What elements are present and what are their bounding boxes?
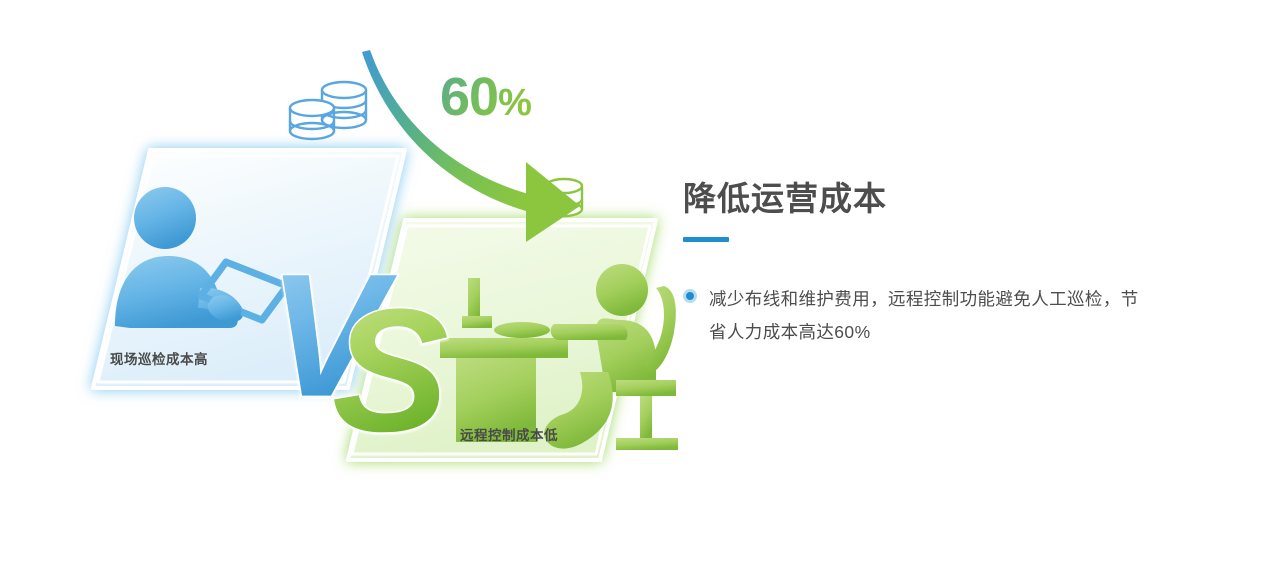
bullet-dot-icon [683,289,697,303]
list-item: 减少布线和维护费用，远程控制功能避免人工巡检，节省人力成本高达60% [683,283,1153,349]
illustration-svg: 60% [60,20,680,530]
versus-badge: V S [268,239,449,469]
feature-text-block: 降低运营成本 减少布线和维护费用，远程控制功能避免人工巡检，节省人力成本高达60… [683,178,1153,349]
coin-stack-blue-icon [290,82,366,139]
page-root: 60% [0,0,1262,564]
title-accent-bar [683,237,729,242]
page-title: 降低运营成本 [683,178,1153,220]
onsite-inspection-caption: 现场巡检成本高 [110,348,208,368]
feature-bullet-list: 减少布线和维护费用，远程控制功能避免人工巡检，节省人力成本高达60% [683,283,1153,349]
remote-control-caption: 远程控制成本低 [460,424,558,444]
versus-letter-s: S [332,274,449,469]
bullet-text: 减少布线和维护费用，远程控制功能避免人工巡检，节省人力成本高达60% [709,283,1153,349]
cost-comparison-illustration: 60% [60,20,680,530]
savings-percentage: 60% [440,67,531,127]
